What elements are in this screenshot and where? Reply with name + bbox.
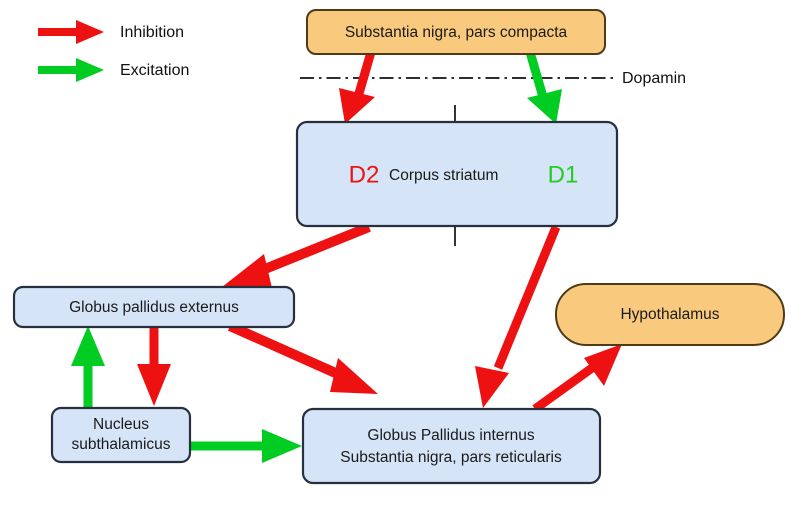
arrow-gpe-to-gpi	[230, 326, 378, 394]
nst-label-line1: Nucleus	[93, 416, 149, 433]
gpi-label-line1: Globus Pallidus internus	[367, 427, 534, 444]
hypothalamus-label: Hypothalamus	[620, 306, 719, 323]
legend-item-excitation: Excitation	[38, 58, 189, 82]
legend-label-inhibition: Inhibition	[120, 24, 184, 41]
basal-ganglia-diagram: Inhibition Excitation Dopamin	[0, 0, 802, 512]
gpi-label-line2: Substantia nigra, pars reticularis	[340, 449, 562, 466]
node-substantia-nigra-pars-compacta[interactable]: Substantia nigra, pars compacta	[307, 10, 605, 54]
arrow-gpi-to-hypothalamus	[535, 344, 622, 409]
arrow-nst-to-gpi	[189, 429, 302, 463]
striatum-d1-receptor-label: D1	[548, 161, 579, 188]
arrow-snc-to-d2	[339, 52, 375, 124]
gpi-box[interactable]	[303, 409, 600, 483]
node-globus-pallidus-internus[interactable]: Globus Pallidus internus Substantia nigr…	[303, 409, 600, 483]
node-corpus-striatum[interactable]: D2 Corpus striatum D1	[297, 122, 617, 226]
node-globus-pallidus-externus[interactable]: Globus pallidus externus	[14, 287, 294, 327]
legend-label-excitation: Excitation	[120, 62, 189, 79]
node-hypothalamus[interactable]: Hypothalamus	[556, 284, 784, 345]
arrow-snc-to-d1	[527, 52, 562, 124]
green-arrow-icon	[38, 58, 104, 82]
striatum-center-label: Corpus striatum	[389, 167, 498, 184]
arrow-d1-to-gpi	[475, 227, 556, 408]
legend-item-inhibition: Inhibition	[38, 20, 184, 44]
arrow-d2-to-gpe	[222, 227, 369, 288]
arrow-gpe-to-nst	[137, 325, 171, 406]
snc-label: Substantia nigra, pars compacta	[345, 24, 568, 41]
node-nucleus-subthalamicus[interactable]: Nucleus subthalamicus	[52, 408, 190, 462]
nst-label-line2: subthalamicus	[71, 436, 170, 453]
red-arrow-icon	[38, 20, 104, 44]
dopamin-label: Dopamin	[622, 70, 686, 87]
arrow-nst-to-gpe	[71, 326, 105, 410]
gpe-label: Globus pallidus externus	[69, 299, 239, 316]
diagram-canvas: Inhibition Excitation Dopamin	[0, 0, 802, 512]
striatum-d2-receptor-label: D2	[349, 161, 380, 188]
legend: Inhibition Excitation	[38, 20, 189, 82]
